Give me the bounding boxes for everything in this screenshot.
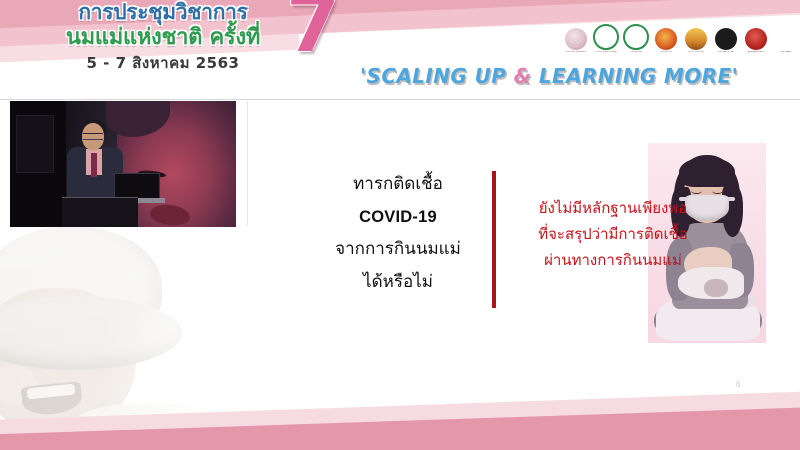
black-emblem-logo: สมาคมวิชาชีพ <box>713 28 739 54</box>
thaihealth-logo: สสส thai health <box>773 28 799 54</box>
slide-answer-text: ยังไม่มีหลักฐานเพียงพอ ที่จะสรุปว่ามีการ… <box>497 196 729 273</box>
mother-hair-top <box>679 157 735 187</box>
black-emblem-logo-icon <box>715 28 737 50</box>
answer-line-2: ที่จะสรุปว่ามีการติดเชื้อ <box>497 222 729 248</box>
conference-title-block: การประชุมวิชาการ นมแม่แห่งชาติ ครั้งที่ … <box>18 2 308 71</box>
slide-page-number: 6 <box>736 380 740 389</box>
thaihealth-logo-caption: thai health <box>780 51 791 54</box>
department-health-logo-caption: กรมอนามัย <box>630 51 642 54</box>
royal-college-logo: ราชวิทยาลัย <box>653 28 679 54</box>
mahidol-logo-icon <box>565 28 587 50</box>
video-dark-panel-inner <box>16 115 54 173</box>
mother-eye-right <box>712 188 723 194</box>
slide-question-text: ทารกติดเชื้อ COVID-19 จากการกินนมแม่ ได้… <box>312 168 484 300</box>
video-podium <box>62 197 138 227</box>
question-answer-divider <box>492 171 496 308</box>
live-speaker-video-feed[interactable] <box>10 101 236 227</box>
ministry-public-health-logo-caption: กระทรวงสาธารณสุข <box>595 51 617 54</box>
conference-edition-number: 7 <box>286 0 340 64</box>
conference-date: 5 - 7 สิงหาคม 2563 <box>18 56 308 71</box>
royal-college-logo-caption: ราชวิทยาลัย <box>660 51 673 54</box>
conference-title-line1: การประชุมวิชาการ <box>18 2 308 23</box>
video-speaker-glasses <box>83 133 103 140</box>
mother-hand <box>704 279 728 297</box>
sponsor-logo-row: มหาวิทยาลัยมหิดล ⚕ กระทรวงสาธารณสุข ⚕ กร… <box>563 24 799 54</box>
black-emblem-logo-caption: สมาคมวิชาชีพ <box>718 51 733 54</box>
red-emblem-logo: มูลนิธิศูนย์นมแม่ <box>743 28 769 54</box>
department-health-logo-icon: ⚕ <box>623 24 649 50</box>
banner-divider-line <box>0 99 800 100</box>
question-line-4: ได้หรือไม่ <box>312 266 484 299</box>
red-emblem-logo-caption: มูลนิธิศูนย์นมแม่ <box>747 51 764 54</box>
conference-banner: การประชุมวิชาการ นมแม่แห่งชาติ ครั้งที่ … <box>0 0 800 100</box>
conference-title-line2: นมแม่แห่งชาติ ครั้งที่ <box>18 27 308 49</box>
department-health-logo: ⚕ กรมอนามัย <box>623 24 649 54</box>
ministry-public-health-logo: ⚕ กระทรวงสาธารณสุข <box>593 24 619 54</box>
mahidol-logo-caption: มหาวิทยาลัยมหิดล <box>566 51 585 54</box>
mahidol-logo: มหาวิทยาลัยมหิดล <box>563 28 589 54</box>
tagline-prefix: 'SCALING UP <box>360 64 514 88</box>
presentation-slide: การประชุมวิชาการ นมแม่แห่งชาติ ครั้งที่ … <box>0 0 800 450</box>
royal-college-logo-icon <box>655 28 677 50</box>
video-speaker-tie <box>91 153 97 177</box>
red-emblem-logo-icon <box>745 28 767 50</box>
tagline-suffix: LEARNING MORE' <box>532 64 739 88</box>
thaihealth-logo-icon: สสส <box>775 28 797 50</box>
mother-eye-left <box>691 188 702 194</box>
answer-line-1: ยังไม่มีหลักฐานเพียงพอ <box>497 196 729 222</box>
question-line-2: COVID-19 <box>312 201 484 233</box>
conference-tagline: 'SCALING UP & LEARNING MORE' <box>360 64 738 88</box>
question-line-1: ทารกติดเชื้อ <box>312 168 484 201</box>
slide-footer-bands <box>0 384 800 450</box>
ministry-public-health-logo-icon: ⚕ <box>593 24 619 50</box>
answer-line-3: ผ่านทางการกินนมแม่ <box>497 248 729 274</box>
question-line-3: จากการกินนมแม่ <box>312 233 484 266</box>
royal-crown-logo-icon <box>685 28 707 50</box>
royal-crown-logo: สภากาชาดไทย <box>683 28 709 54</box>
tagline-ampersand: & <box>514 64 532 88</box>
royal-crown-logo-caption: สภากาชาดไทย <box>688 51 704 54</box>
